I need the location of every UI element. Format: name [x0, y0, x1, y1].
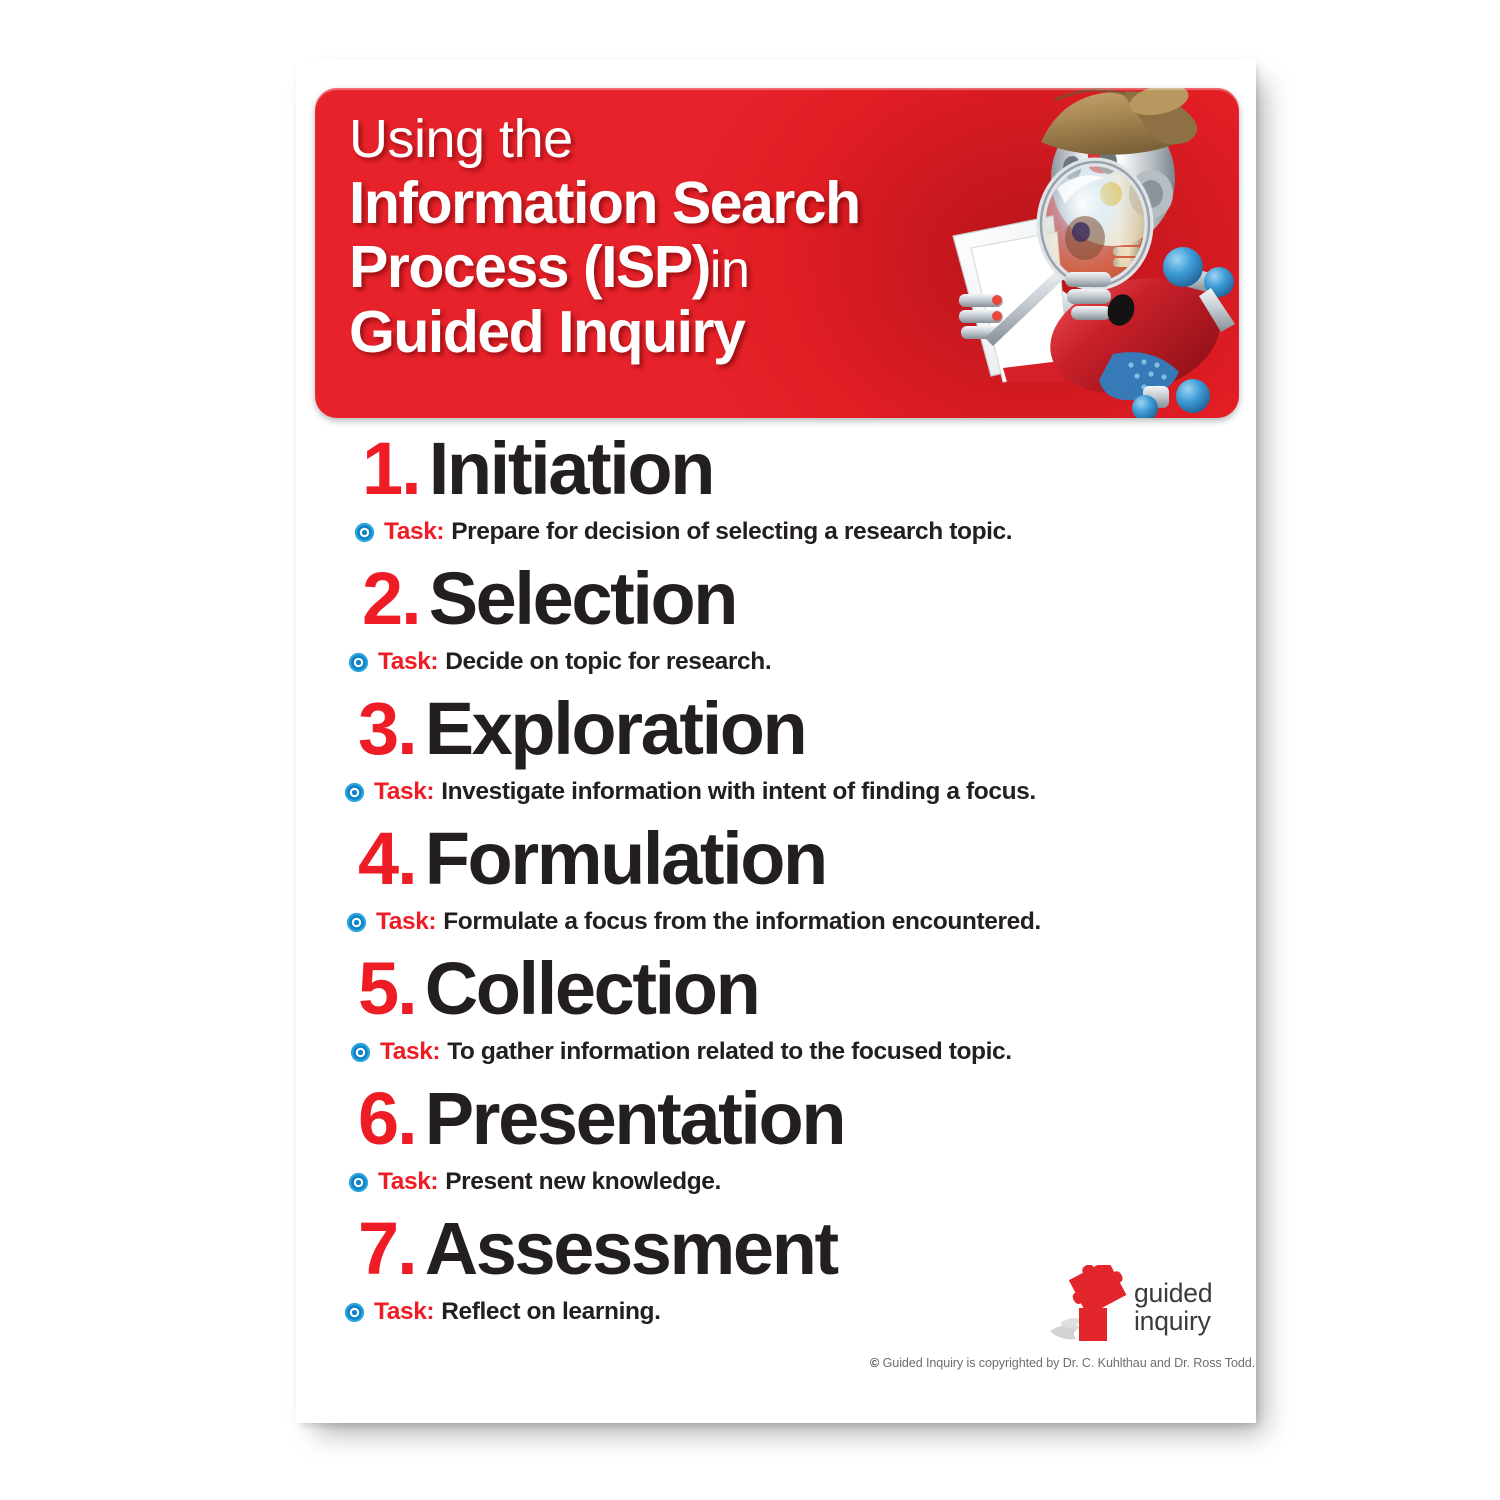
bullseye-icon: [354, 522, 375, 543]
title-line-3-suffix: in: [710, 241, 749, 299]
task-text: Present new knowledge.: [445, 1168, 721, 1196]
step-item: 3.Exploration Task: Investigate informat…: [296, 692, 1256, 822]
step-number: 5.: [358, 947, 416, 1030]
step-item: 4.Formulation Task: Formulate a focus fr…: [296, 822, 1256, 952]
step-task: Task: Reflect on learning.: [344, 1298, 661, 1326]
title-line-3-main: Process (ISP): [349, 234, 710, 300]
bullseye-icon: [348, 1172, 369, 1193]
bullseye-icon: [344, 782, 365, 803]
task-text: Formulate a focus from the information e…: [443, 908, 1041, 936]
step-title: Initiation: [429, 427, 713, 510]
task-text: To gather information related to the foc…: [447, 1038, 1011, 1066]
bullseye-icon: [344, 1302, 365, 1323]
step-title: Assessment: [425, 1207, 837, 1290]
step-title: Exploration: [425, 687, 806, 770]
step-heading: 1.Initiation: [362, 432, 713, 506]
task-label: Task:: [378, 1168, 438, 1196]
task-label: Task:: [374, 778, 434, 806]
step-item: 1.Initiation Task: Prepare for decision …: [296, 432, 1256, 562]
bullseye-icon: [350, 1042, 371, 1063]
copyright-symbol: ©: [870, 1356, 879, 1370]
step-number: 4.: [358, 817, 416, 900]
guided-inquiry-logo: guided inquiry: [1048, 1265, 1228, 1347]
step-task: Task: Present new knowledge.: [348, 1168, 721, 1196]
copyright-notice: © Guided Inquiry is copyrighted by Dr. C…: [870, 1356, 1240, 1370]
step-task: Task: Prepare for decision of selecting …: [354, 518, 1012, 546]
task-label: Task:: [374, 1298, 434, 1326]
task-label: Task:: [376, 908, 436, 936]
poster-sheet: Using the Information Search Process (IS…: [296, 60, 1256, 1423]
task-text: Investigate information with intent of f…: [441, 778, 1036, 806]
step-task: Task: To gather information related to t…: [350, 1038, 1012, 1066]
step-number: 6.: [358, 1077, 416, 1160]
step-heading: 6.Presentation: [358, 1082, 844, 1156]
task-label: Task:: [384, 518, 444, 546]
step-title: Collection: [425, 947, 759, 1030]
isp-steps-list: 1.Initiation Task: Prepare for decision …: [296, 432, 1256, 1342]
task-label: Task:: [378, 648, 438, 676]
step-title: Formulation: [425, 817, 826, 900]
logo-word-inquiry: inquiry: [1134, 1307, 1212, 1335]
bullseye-icon: [348, 652, 369, 673]
task-text: Decide on topic for research.: [445, 648, 771, 676]
task-text: Prepare for decision of selecting a rese…: [451, 518, 1012, 546]
step-item: 5.Collection Task: To gather information…: [296, 952, 1256, 1082]
step-heading: 3.Exploration: [358, 692, 805, 766]
puzzle-piece-logo-icon: [1048, 1265, 1136, 1345]
step-number: 7.: [358, 1207, 416, 1290]
bullseye-icon: [346, 912, 367, 933]
task-text: Reflect on learning.: [441, 1298, 660, 1326]
logo-wordmark: guided inquiry: [1134, 1279, 1212, 1335]
step-title: Presentation: [425, 1077, 844, 1160]
poster-title: Using the Information Search Process (IS…: [349, 112, 969, 362]
step-number: 1.: [362, 427, 420, 510]
step-title: Selection: [429, 557, 736, 640]
title-line-1: Using the: [349, 112, 969, 167]
header-banner: Using the Information Search Process (IS…: [315, 88, 1239, 418]
title-line-4: Guided Inquiry: [349, 303, 969, 363]
step-heading: 2.Selection: [362, 562, 736, 636]
step-task: Task: Investigate information with inten…: [344, 778, 1036, 806]
step-task: Task: Formulate a focus from the informa…: [346, 908, 1041, 936]
step-item: 6.Presentation Task: Present new knowled…: [296, 1082, 1256, 1212]
title-line-3: Process (ISP)in: [349, 238, 969, 298]
copyright-text: Guided Inquiry is copyrighted by Dr. C. …: [883, 1356, 1255, 1370]
task-label: Task:: [380, 1038, 440, 1066]
step-number: 2.: [362, 557, 420, 640]
step-heading: 4.Formulation: [358, 822, 826, 896]
step-number: 3.: [358, 687, 416, 770]
title-line-2: Information Search: [349, 174, 969, 234]
step-heading: 7.Assessment: [358, 1212, 837, 1286]
step-item: 2.Selection Task: Decide on topic for re…: [296, 562, 1256, 692]
step-task: Task: Decide on topic for research.: [348, 648, 771, 676]
step-heading: 5.Collection: [358, 952, 758, 1026]
logo-word-guided: guided: [1134, 1279, 1212, 1307]
detective-robot-icon: [945, 88, 1239, 418]
